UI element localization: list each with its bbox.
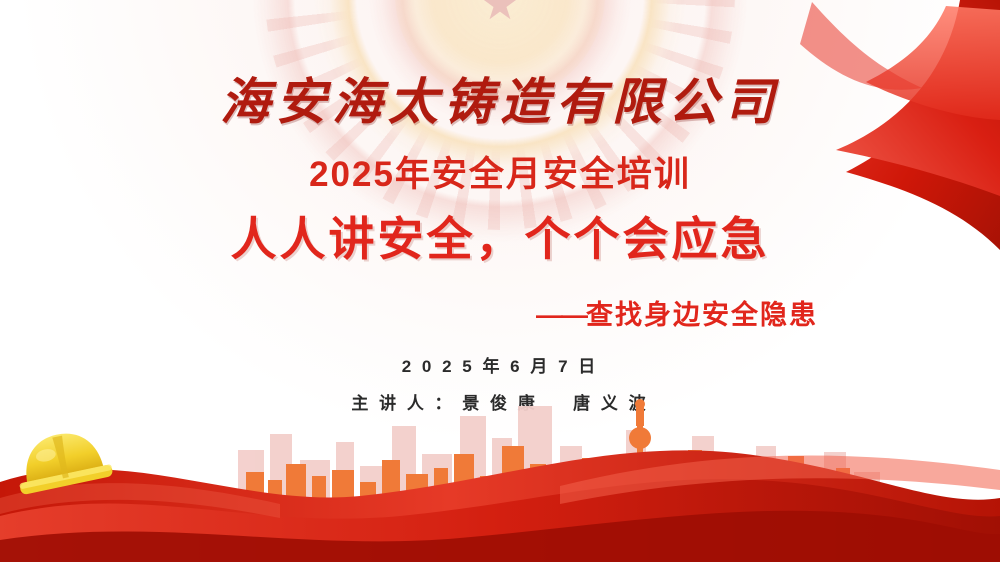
tagline-dash: ——	[536, 300, 586, 330]
headline-block: 海安海太铸造有限公司 2025年安全月安全培训 人人讲安全，个个会应急 ——查找…	[0, 62, 1000, 332]
safety-slogan: 人人讲安全，个个会应急	[0, 203, 1000, 269]
safety-helmet-icon	[8, 420, 118, 500]
tagline: ——查找身边安全隐患	[0, 293, 1000, 332]
date-label: 2 0 2 5 年 6 月 7 日	[0, 352, 1000, 377]
tagline-text: 查找身边安全隐患	[586, 300, 818, 330]
company-name: 海安海太铸造有限公司	[0, 62, 1000, 134]
red-wave-bottom	[0, 412, 1000, 562]
presentation-title-slide: ★	[0, 0, 1000, 562]
training-subtitle: 2025年安全月安全培训	[0, 146, 1000, 197]
star-icon: ★	[480, 0, 519, 27]
